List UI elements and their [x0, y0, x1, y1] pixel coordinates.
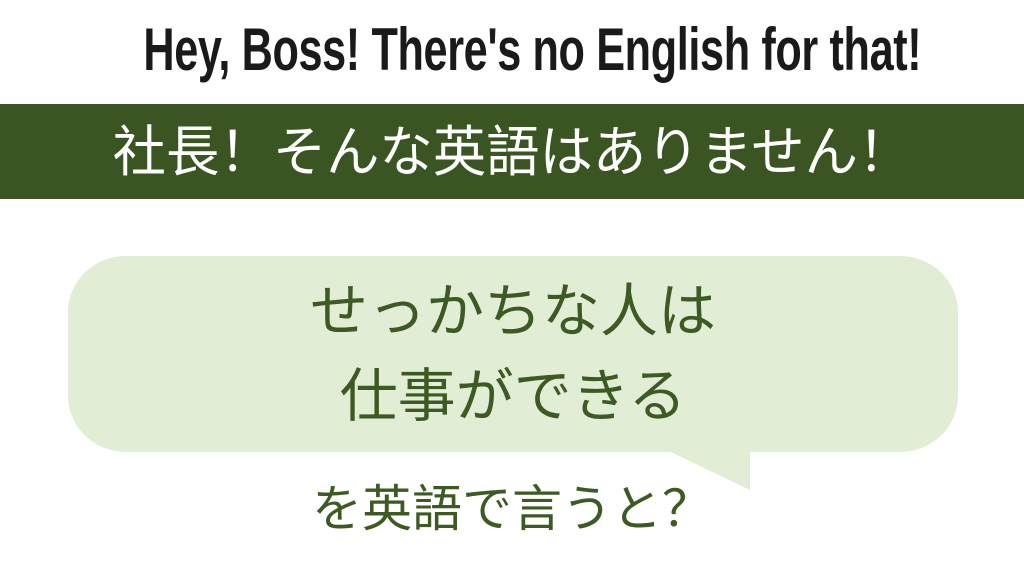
- question-prompt: を英語で言うと？: [0, 478, 1024, 540]
- speech-bubble-text: せっかちな人は 仕事ができる: [68, 256, 958, 452]
- speech-bubble-line-1: せっかちな人は: [310, 269, 716, 354]
- speech-bubble-line-2: 仕事ができる: [340, 354, 687, 439]
- green-banner-label: 社長！そんな英語はありません！: [15, 104, 1008, 199]
- green-banner: 社長！そんな英語はありません！: [0, 104, 1024, 199]
- page-title: Hey, Boss! There's no English for that!: [143, 14, 880, 86]
- slide-canvas: Hey, Boss! There's no English for that! …: [0, 0, 1024, 576]
- speech-bubble: せっかちな人は 仕事ができる: [68, 256, 958, 452]
